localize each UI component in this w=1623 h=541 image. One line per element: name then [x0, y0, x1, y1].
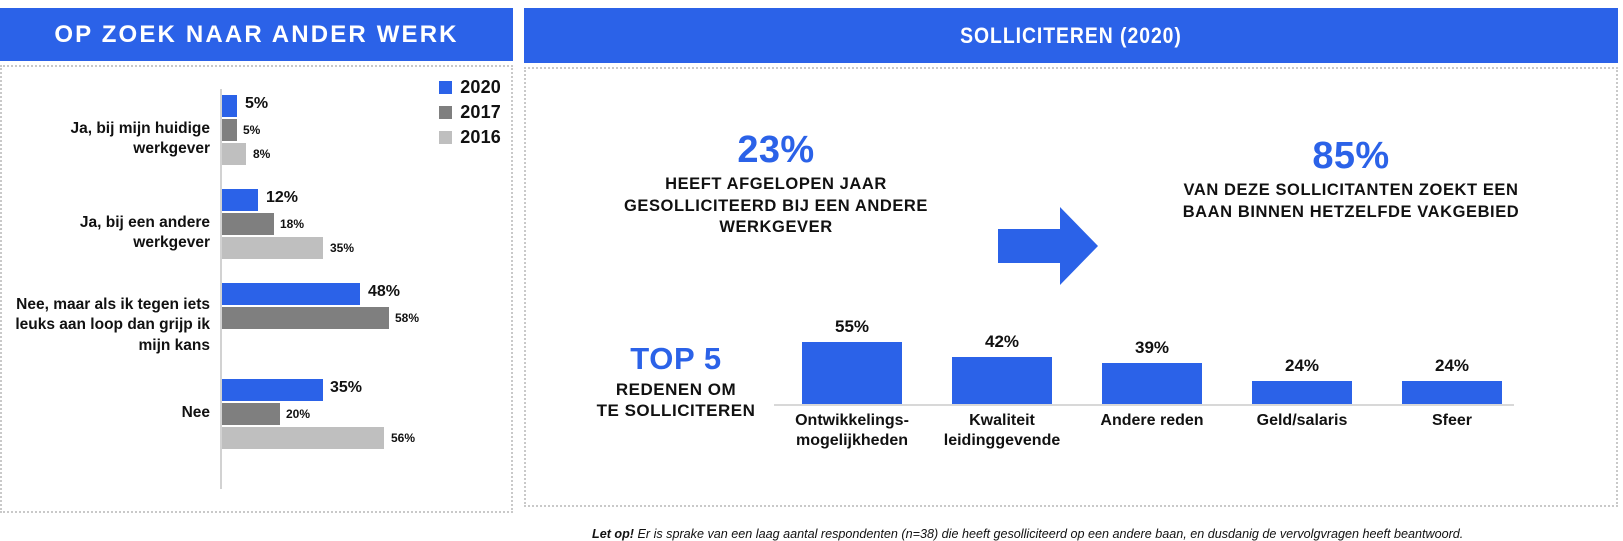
bar-group: Ja, bij een andere werkgever 12% 18% 35%	[2, 189, 511, 285]
left-panel-title: OP ZOEK NAAR ANDER WERK	[0, 8, 513, 61]
stat-number: 85%	[1116, 137, 1586, 177]
work-search-bar-chart: 2020 2017 2016 Ja, bij mijn huidige	[2, 67, 511, 511]
bar-value-2020: 48%	[368, 283, 400, 301]
bar-2017	[222, 403, 280, 425]
bar-2017	[222, 213, 274, 235]
bar	[1252, 381, 1352, 404]
bar-group-label: Ja, bij een andere werkgever	[10, 213, 210, 254]
bar-group: Ja, bij mijn huidige werkgever 5% 5% 8%	[2, 95, 511, 191]
bar-2020	[222, 189, 258, 211]
bar-value: 39%	[1082, 338, 1222, 358]
bar-category-label: Kwaliteit leidinggevende	[922, 411, 1082, 450]
right-arrow-svg	[998, 207, 1098, 285]
bar-value-2017: 18%	[280, 217, 304, 231]
bar-value: 55%	[782, 317, 922, 337]
bar-value-2017: 58%	[395, 311, 419, 325]
bar-category-label: Geld/salaris	[1222, 411, 1382, 431]
bar-2016	[222, 237, 323, 259]
stat-number: 23%	[566, 131, 986, 171]
bar-2017	[222, 119, 237, 141]
bar-2020	[222, 379, 323, 401]
bar-2020	[222, 283, 360, 305]
bar	[952, 357, 1052, 404]
top5-heading-block: TOP 5 REDENEN OM TE SOLLICITEREN	[566, 343, 786, 422]
chart-baseline	[774, 404, 1514, 406]
bar	[1102, 363, 1202, 404]
right-panel-title: SOLLICITEREN (2020)	[524, 8, 1618, 63]
bar-category-label: Sfeer	[1372, 411, 1532, 431]
top5-subtitle: REDENEN OM TE SOLLICITEREN	[566, 379, 786, 422]
bar-value-2020: 5%	[245, 95, 268, 113]
bar-value-2016: 35%	[330, 241, 354, 255]
left-panel-body: 2020 2017 2016 Ja, bij mijn huidige	[0, 65, 513, 513]
bar-category-label: Andere reden	[1072, 411, 1232, 431]
legend-swatch-icon	[439, 81, 452, 94]
top5-title: TOP 5	[566, 343, 786, 374]
bar	[802, 342, 902, 404]
bar-value-2017: 5%	[243, 123, 260, 137]
stat-description: VAN DEZE SOLLICITANTEN ZOEKT EEN BAAN BI…	[1116, 180, 1586, 224]
bar-value-2020: 12%	[266, 189, 298, 207]
bar-group-label: Nee	[10, 403, 210, 423]
bar-value: 42%	[932, 332, 1072, 352]
bar-value-2016: 8%	[253, 147, 270, 161]
stat-description: HEEFT AFGELOPEN JAAR GESOLLICITEERD BIJ …	[566, 174, 986, 239]
right-panel-body: 23% HEEFT AFGELOPEN JAAR GESOLLICITEERD …	[524, 67, 1618, 507]
bar-group-label: Ja, bij mijn huidige werkgever	[10, 119, 210, 160]
bar	[1402, 381, 1502, 404]
bar-2017	[222, 307, 389, 329]
right-panel: SOLLICITEREN (2020) 23% HEEFT AFGELOPEN …	[524, 8, 1618, 510]
infographic-root: OP ZOEK NAAR ANDER WERK 2020 2017 2016	[0, 0, 1623, 518]
footnote-text: Er is sprake van een laag aantal respond…	[634, 527, 1463, 541]
bar-value: 24%	[1232, 356, 1372, 376]
bar-value-2020: 35%	[330, 379, 362, 397]
left-panel: OP ZOEK NAAR ANDER WERK 2020 2017 2016	[0, 8, 513, 510]
bar-group: Nee 35% 20% 56%	[2, 379, 511, 475]
bar-category-label: Ontwikkelings- mogelijkheden	[772, 411, 932, 450]
footnote: Let op! Er is sprake van een laag aantal…	[592, 527, 1612, 541]
bar-value-2016: 56%	[391, 431, 415, 445]
bar-2016	[222, 427, 384, 449]
bar-value: 24%	[1382, 356, 1522, 376]
stat-23-percent: 23% HEEFT AFGELOPEN JAAR GESOLLICITEERD …	[566, 131, 986, 239]
bar-value-2017: 20%	[286, 407, 310, 421]
bar-2020	[222, 95, 237, 117]
bar-group: Nee, maar als ik tegen iets leuks aan lo…	[2, 283, 511, 379]
stat-85-percent: 85% VAN DEZE SOLLICITANTEN ZOEKT EEN BAA…	[1116, 137, 1586, 223]
right-arrow-icon	[998, 207, 1098, 285]
bar-2016	[222, 143, 246, 165]
bar-group-label: Nee, maar als ik tegen iets leuks aan lo…	[10, 295, 210, 356]
footnote-bold: Let op!	[592, 527, 634, 541]
